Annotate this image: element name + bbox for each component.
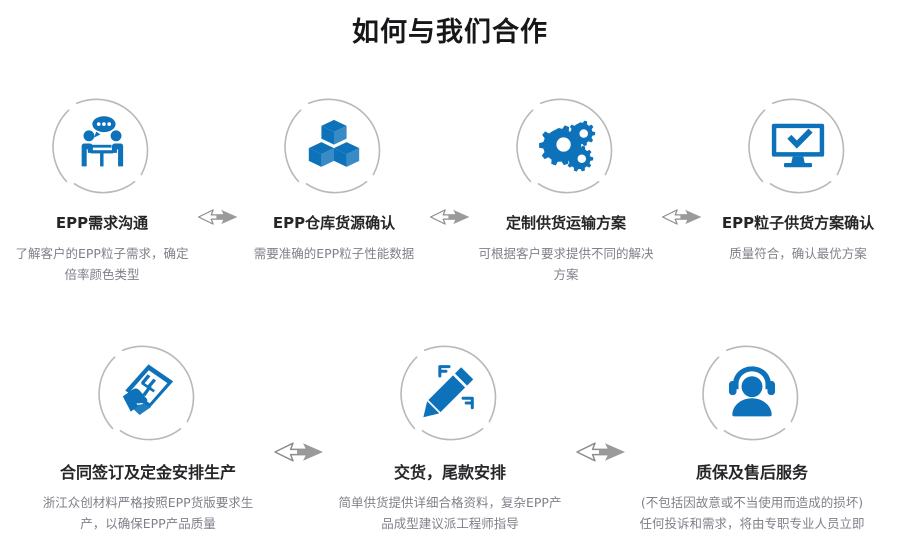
double-chevron-arrow-icon [575, 437, 627, 467]
workflow-row-1: EPP需求沟通 了解客户的EPP粒子需求，确定倍率颜色类型 [0, 86, 900, 285]
step-3-description: 可根据客户要求提供不同的解决方案 [477, 243, 655, 285]
step-2-description: 需要准确的EPP粒子性能数据 [245, 243, 423, 264]
step-card-1[interactable]: EPP需求沟通 了解客户的EPP粒子需求，确定倍率颜色类型 [7, 86, 197, 285]
workflow-row-2: 合同签订及定金安排生产 浙江众创材料严格按照EPP货版要求生产，以确保EPP产品… [0, 333, 900, 538]
step-card-2[interactable]: EPP仓库货源确认 需要准确的EPP粒子性能数据 [239, 86, 429, 264]
step-2-title: EPP仓库货源确认 [273, 213, 395, 234]
step-5-ring-wrap [89, 333, 207, 451]
step-7-description: (不包括因故意或不当使用而造成的损坏)任何投诉和需求，将由专职专业人员立即回应 [636, 492, 868, 538]
step-card-6[interactable]: 交货，尾款安排 简单供货提供详细合格资料，复杂EPP产品成型建议派工程师指导 [325, 333, 575, 534]
arrow-separator-5 [575, 437, 627, 467]
gears-icon [535, 114, 597, 176]
step-1-ring-wrap [43, 86, 161, 204]
step-3-ring-wrap [507, 86, 625, 204]
workflow-page: 如何与我们合作 [0, 0, 900, 538]
step-card-7[interactable]: 质保及售后服务 (不包括因故意或不当使用而造成的损坏)任何投诉和需求，将由专职专… [627, 333, 877, 538]
arrow-separator-4 [273, 437, 325, 467]
people-discussion-icon [71, 114, 133, 176]
step-5-description: 浙江众创材料严格按照EPP货版要求生产，以确保EPP产品质量 [32, 492, 264, 534]
hand-signing-contract-icon [117, 361, 179, 423]
step-1-title: EPP需求沟通 [56, 213, 148, 234]
step-4-description: 质量符合，确认最优方案 [709, 243, 887, 264]
step-4-ring-wrap [739, 86, 857, 204]
pencil-design-icon [419, 361, 481, 423]
step-card-3[interactable]: 定制供货运输方案 可根据客户要求提供不同的解决方案 [471, 86, 661, 285]
step-2-ring-wrap [275, 86, 393, 204]
step-7-ring-wrap [693, 333, 811, 451]
step-card-5[interactable]: 合同签订及定金安排生产 浙江众创材料严格按照EPP货版要求生产，以确保EPP产品… [23, 333, 273, 534]
step-6-description: 简单供货提供详细合格资料，复杂EPP产品成型建议派工程师指导 [334, 492, 566, 534]
step-6-ring-wrap [391, 333, 509, 451]
stacked-boxes-icon [303, 114, 365, 176]
page-title: 如何与我们合作 [0, 14, 900, 52]
arrow-separator-1 [197, 204, 239, 230]
step-1-description: 了解客户的EPP粒子需求，确定倍率颜色类型 [13, 243, 191, 285]
step-5-title: 合同签订及定金安排生产 [60, 462, 236, 483]
step-7-title: 质保及售后服务 [696, 462, 808, 483]
arrow-separator-2 [429, 204, 471, 230]
step-3-title: 定制供货运输方案 [506, 213, 626, 234]
double-chevron-arrow-icon [197, 204, 239, 230]
headset-support-icon [721, 361, 783, 423]
arrow-separator-3 [661, 204, 703, 230]
double-chevron-arrow-icon [661, 204, 703, 230]
monitor-check-icon [767, 114, 829, 176]
double-chevron-arrow-icon [273, 437, 325, 467]
step-4-title: EPP粒子供货方案确认 [722, 213, 874, 234]
step-card-4[interactable]: EPP粒子供货方案确认 质量符合，确认最优方案 [703, 86, 893, 264]
double-chevron-arrow-icon [429, 204, 471, 230]
step-6-title: 交货，尾款安排 [394, 462, 506, 483]
